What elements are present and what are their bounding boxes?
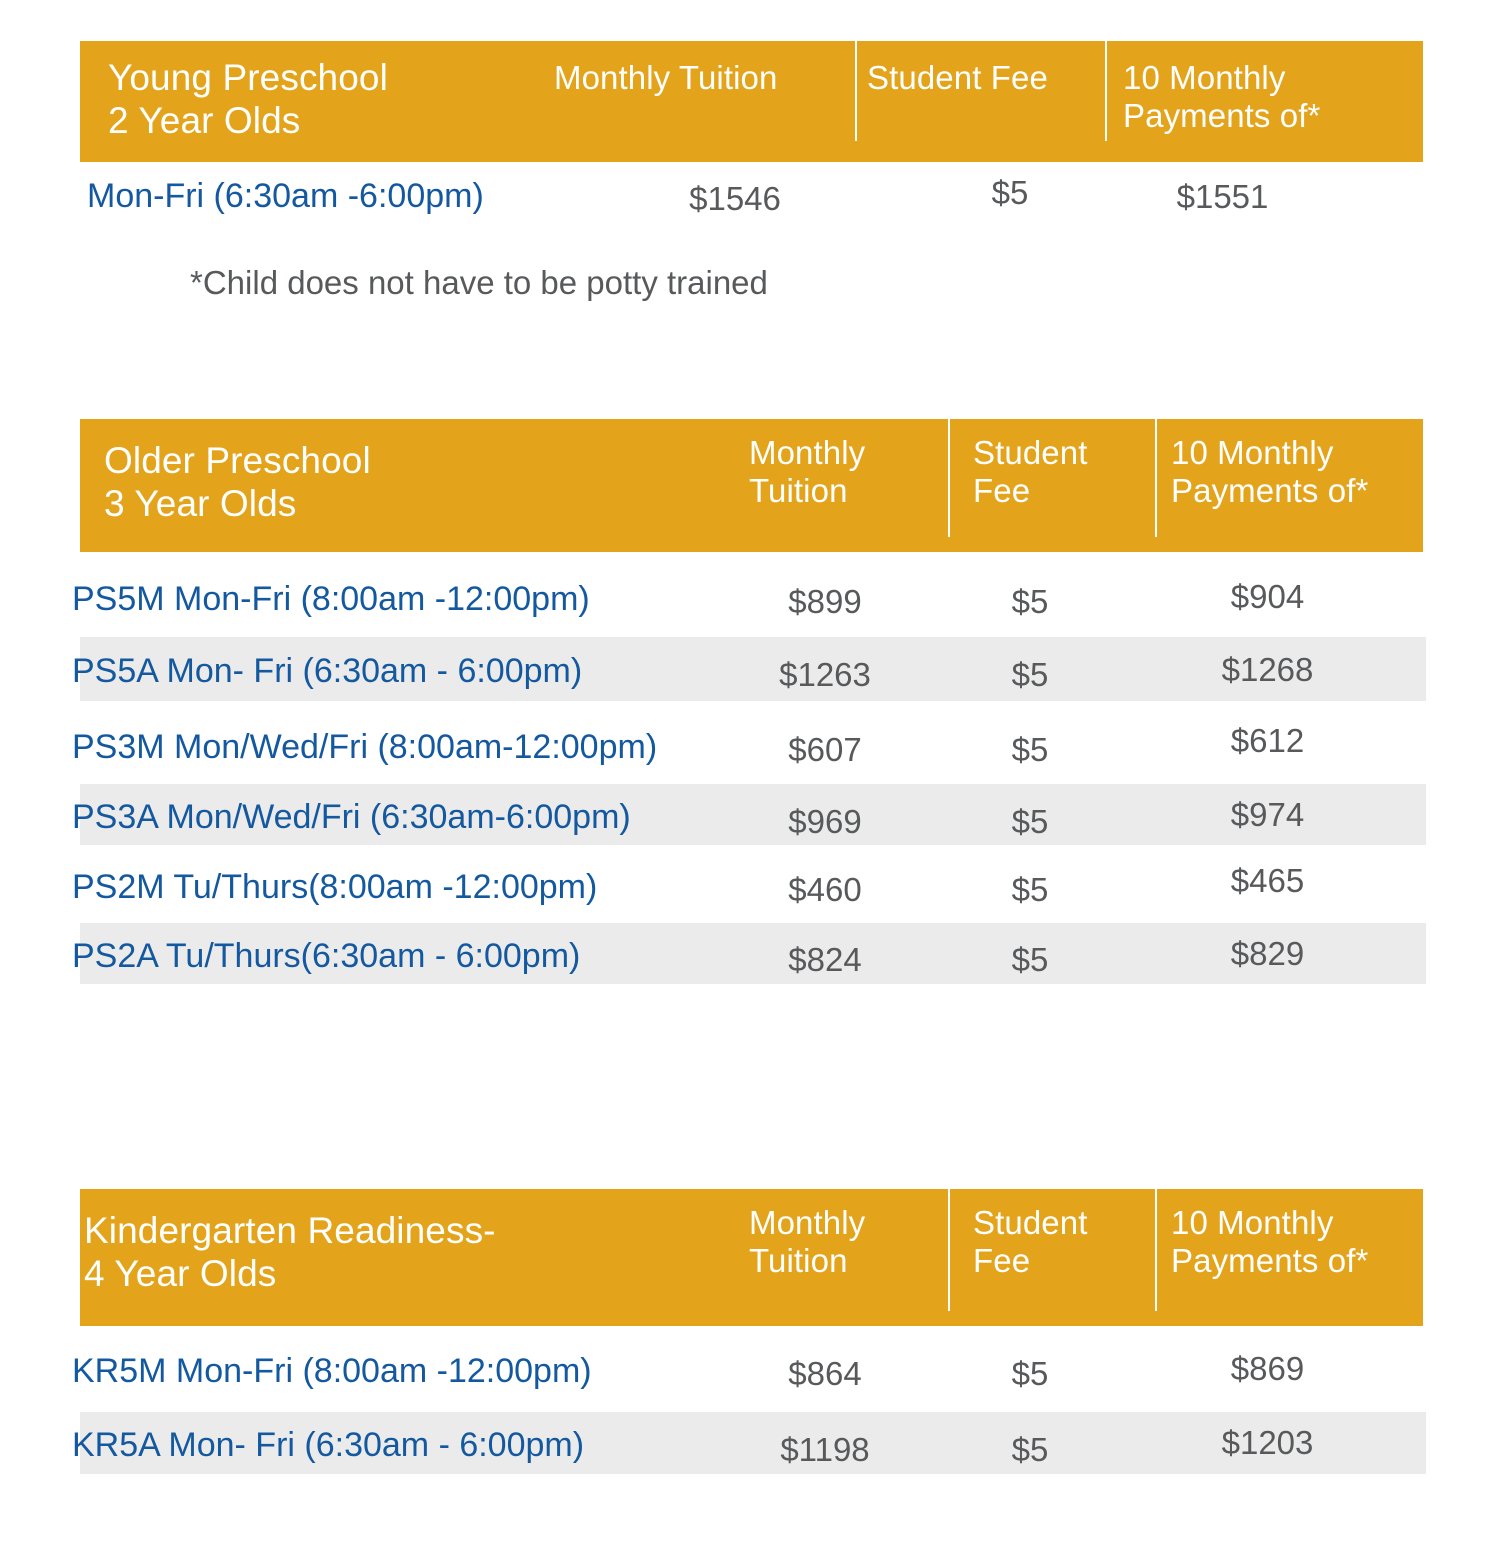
title-line-2: 3 Year Olds bbox=[104, 483, 296, 524]
row-monthly-tuition: $1546 bbox=[620, 182, 850, 215]
title-line-2: 2 Year Olds bbox=[108, 100, 300, 141]
tuition-line-2: Tuition bbox=[749, 1242, 848, 1279]
col-header-10-monthly-payments: 10 MonthlyPayments of* bbox=[1123, 59, 1320, 136]
col-header-10-monthly-payments: 10 MonthlyPayments of* bbox=[1171, 434, 1368, 511]
row-student-fee: $5 bbox=[950, 733, 1110, 766]
col-header-student-fee: StudentFee bbox=[973, 1204, 1087, 1281]
header-divider-1 bbox=[948, 419, 950, 537]
row-student-fee: $5 bbox=[920, 176, 1100, 209]
col-header-10-monthly-payments: 10 MonthlyPayments of* bbox=[1171, 1204, 1368, 1281]
title-line-2: 4 Year Olds bbox=[84, 1253, 276, 1294]
col-header-student-fee: StudentFee bbox=[973, 434, 1087, 511]
table-older-preschool-header: Older Preschool3 Year Olds MonthlyTuitio… bbox=[80, 419, 1423, 552]
row-10-monthly-payment: $1268 bbox=[1160, 653, 1375, 686]
row-10-monthly-payment: $465 bbox=[1160, 864, 1375, 897]
fee-line-2: Fee bbox=[973, 1242, 1030, 1279]
payments-line-2: Payments of* bbox=[1123, 97, 1320, 134]
row-student-fee: $5 bbox=[950, 585, 1110, 618]
table-row[interactable]: Mon-Fri (6:30am -6:00pm) $1546 $5 $1551 bbox=[80, 162, 1425, 224]
row-student-fee: $5 bbox=[950, 658, 1110, 691]
header-divider-1 bbox=[855, 41, 857, 141]
row-10-monthly-payment: $974 bbox=[1160, 798, 1375, 831]
table-older-preschool-title: Older Preschool3 Year Olds bbox=[104, 440, 371, 526]
title-line-1: Young Preschool bbox=[108, 57, 388, 98]
row-10-monthly-payment: $869 bbox=[1160, 1352, 1375, 1385]
table-kindergarten-readiness-title: Kindergarten Readiness-4 Year Olds bbox=[84, 1210, 496, 1296]
row-student-fee: $5 bbox=[950, 943, 1110, 976]
tuition-line-2: Tuition bbox=[749, 472, 848, 509]
header-divider-2 bbox=[1105, 41, 1107, 141]
row-student-fee: $5 bbox=[950, 1357, 1110, 1390]
row-label: PS5A Mon- Fri (6:30am - 6:00pm) bbox=[72, 654, 582, 688]
row-label: PS2A Tu/Thurs(6:30am - 6:00pm) bbox=[72, 939, 580, 973]
col-header-monthly-tuition: MonthlyTuition bbox=[749, 1204, 865, 1281]
table-young-preschool: Young Preschool2 Year Olds Monthly Tuiti… bbox=[80, 41, 1423, 162]
table-row[interactable]: PS2M Tu/Thurs(8:00am -12:00pm) $460 $5 $… bbox=[80, 855, 1426, 915]
row-label: PS3M Mon/Wed/Fri (8:00am-12:00pm) bbox=[72, 730, 657, 764]
table-older-preschool-rows: PS5M Mon-Fri (8:00am -12:00pm) $899 $5 $… bbox=[80, 552, 1426, 994]
row-10-monthly-payment: $1551 bbox=[1080, 180, 1365, 213]
header-divider-1 bbox=[948, 1189, 950, 1311]
col-header-monthly-tuition: MonthlyTuition bbox=[749, 434, 865, 511]
payments-line-2: Payments of* bbox=[1171, 1242, 1368, 1279]
table-young-preschool-header: Young Preschool2 Year Olds Monthly Tuiti… bbox=[80, 41, 1423, 162]
row-monthly-tuition: $969 bbox=[730, 805, 920, 838]
table-kindergarten-readiness: Kindergarten Readiness-4 Year Olds Month… bbox=[80, 1189, 1423, 1326]
row-label: KR5M Mon-Fri (8:00am -12:00pm) bbox=[72, 1354, 592, 1388]
row-monthly-tuition: $1263 bbox=[730, 658, 920, 691]
table-kindergarten-readiness-rows: KR5M Mon-Fri (8:00am -12:00pm) $864 $5 $… bbox=[80, 1326, 1426, 1486]
payments-line-1: 10 Monthly bbox=[1171, 434, 1333, 471]
row-10-monthly-payment: $829 bbox=[1160, 937, 1375, 970]
row-student-fee: $5 bbox=[950, 873, 1110, 906]
potty-trained-footnote: *Child does not have to be potty trained bbox=[190, 266, 768, 299]
row-label: Mon-Fri (6:30am -6:00pm) bbox=[87, 179, 484, 213]
payments-line-2: Payments of* bbox=[1171, 472, 1368, 509]
table-row[interactable]: KR5M Mon-Fri (8:00am -12:00pm) $864 $5 $… bbox=[80, 1340, 1426, 1398]
payments-line-1: 10 Monthly bbox=[1171, 1204, 1333, 1241]
fee-line-1: Student bbox=[973, 1204, 1087, 1241]
table-kindergarten-readiness-header: Kindergarten Readiness-4 Year Olds Month… bbox=[80, 1189, 1423, 1326]
table-row[interactable]: PS3A Mon/Wed/Fri (6:30am-6:00pm) $969 $5… bbox=[80, 784, 1426, 845]
tuition-line-1: Monthly bbox=[749, 1204, 865, 1241]
col-header-monthly-tuition: Monthly Tuition bbox=[554, 59, 777, 97]
table-row[interactable]: KR5A Mon- Fri (6:30am - 6:00pm) $1198 $5… bbox=[80, 1412, 1426, 1474]
table-young-preschool-title: Young Preschool2 Year Olds bbox=[108, 57, 388, 143]
title-line-1: Older Preschool bbox=[104, 440, 371, 481]
table-row[interactable]: PS5M Mon-Fri (8:00am -12:00pm) $899 $5 $… bbox=[80, 570, 1426, 622]
row-monthly-tuition: $864 bbox=[730, 1357, 920, 1390]
tuition-line-1: Monthly bbox=[749, 434, 865, 471]
row-student-fee: $5 bbox=[950, 1433, 1110, 1466]
row-monthly-tuition: $824 bbox=[730, 943, 920, 976]
row-label: PS5M Mon-Fri (8:00am -12:00pm) bbox=[72, 582, 590, 616]
row-student-fee: $5 bbox=[950, 805, 1110, 838]
row-monthly-tuition: $899 bbox=[730, 585, 920, 618]
row-label: PS2M Tu/Thurs(8:00am -12:00pm) bbox=[72, 870, 597, 904]
col-header-student-fee: Student Fee bbox=[867, 59, 1048, 97]
table-row[interactable]: PS3M Mon/Wed/Fri (8:00am-12:00pm) $607 $… bbox=[80, 715, 1426, 775]
table-row[interactable]: PS2A Tu/Thurs(6:30am - 6:00pm) $824 $5 $… bbox=[80, 923, 1426, 984]
row-10-monthly-payment: $1203 bbox=[1160, 1426, 1375, 1459]
row-monthly-tuition: $607 bbox=[730, 733, 920, 766]
row-monthly-tuition: $1198 bbox=[730, 1433, 920, 1466]
row-monthly-tuition: $460 bbox=[730, 873, 920, 906]
fee-line-1: Student bbox=[973, 434, 1087, 471]
fee-line-2: Fee bbox=[973, 472, 1030, 509]
payments-line-1: 10 Monthly bbox=[1123, 59, 1285, 96]
row-10-monthly-payment: $904 bbox=[1160, 580, 1375, 613]
header-divider-2 bbox=[1155, 1189, 1157, 1311]
row-10-monthly-payment: $612 bbox=[1160, 724, 1375, 757]
table-young-preschool-rows: Mon-Fri (6:30am -6:00pm) $1546 $5 $1551 bbox=[80, 162, 1423, 224]
header-divider-2 bbox=[1155, 419, 1157, 537]
tuition-rate-sheet: Young Preschool2 Year Olds Monthly Tuiti… bbox=[0, 0, 1500, 1562]
table-older-preschool: Older Preschool3 Year Olds MonthlyTuitio… bbox=[80, 419, 1423, 552]
row-label: KR5A Mon- Fri (6:30am - 6:00pm) bbox=[72, 1428, 584, 1462]
title-line-1: Kindergarten Readiness- bbox=[84, 1210, 496, 1251]
row-label: PS3A Mon/Wed/Fri (6:30am-6:00pm) bbox=[72, 800, 631, 834]
table-row[interactable]: PS5A Mon- Fri (6:30am - 6:00pm) $1263 $5… bbox=[80, 637, 1426, 701]
